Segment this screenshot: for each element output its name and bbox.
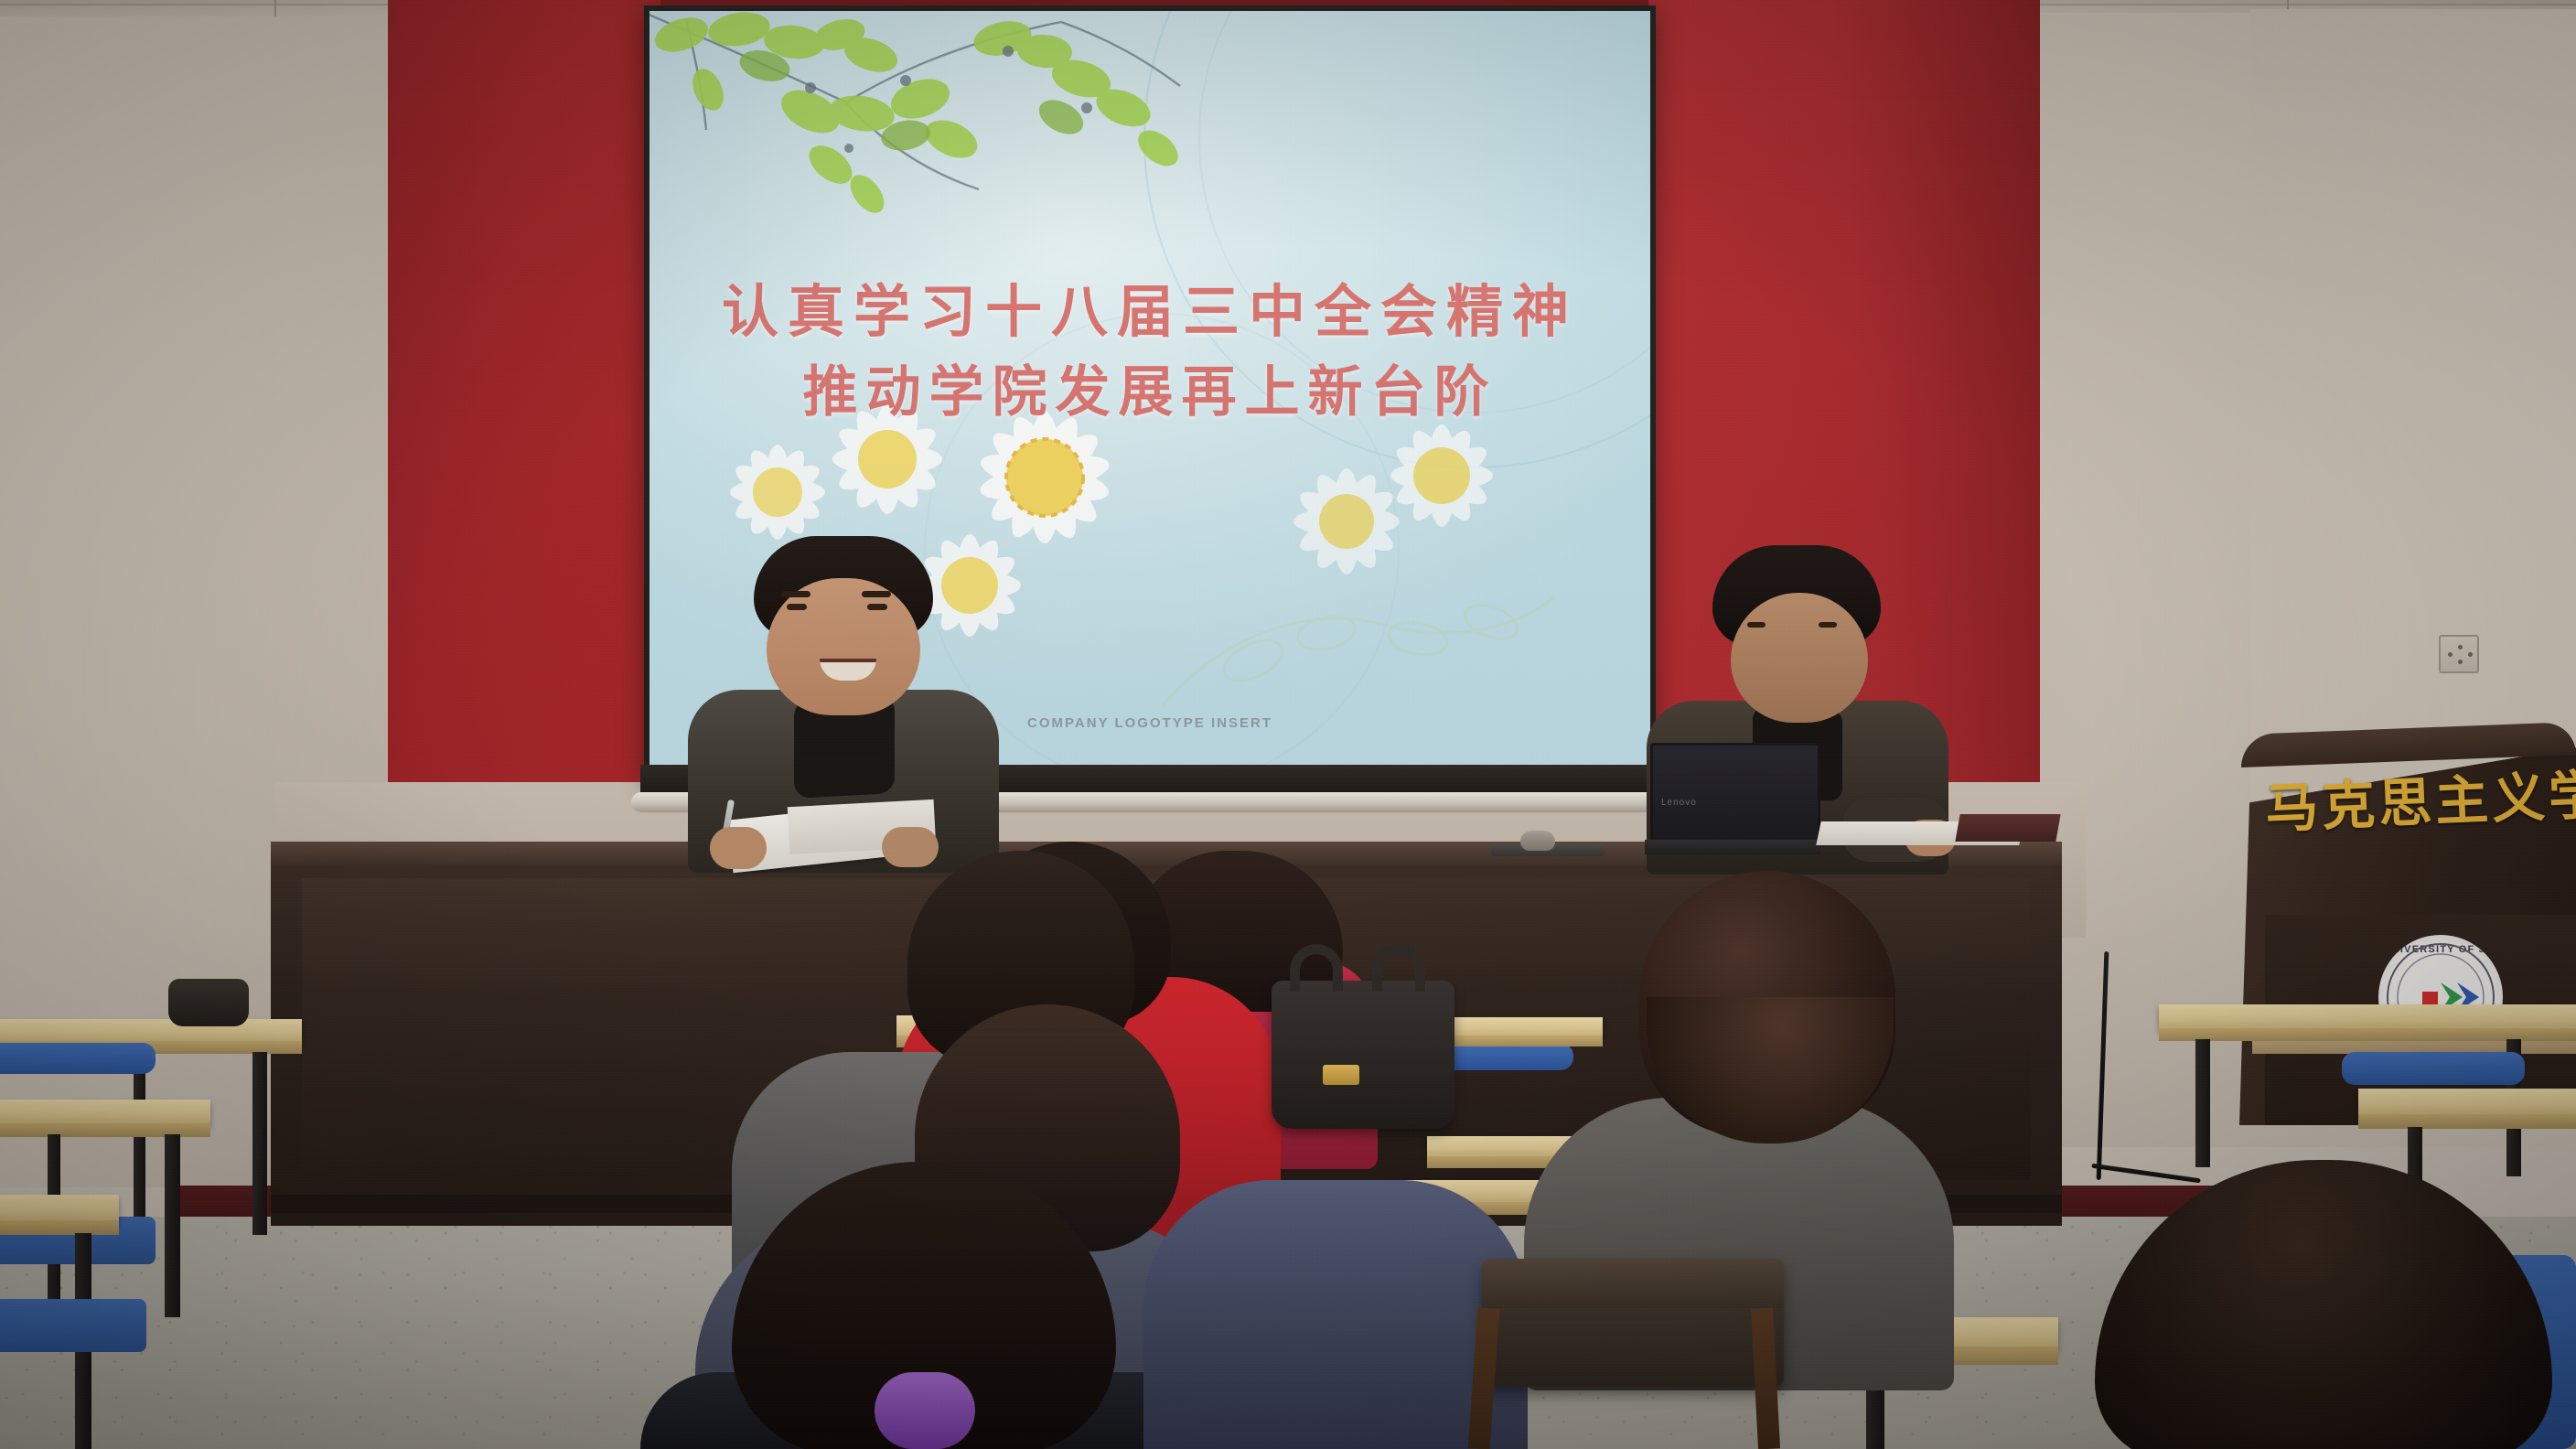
slide-faint-motif [1143,523,1564,743]
black-handbag [1272,981,1454,1129]
podium-sign-text: 马克思主义学 [2263,753,2576,843]
purple-hair-tie [875,1372,975,1449]
right-man-eye [1819,622,1837,628]
slide-subtitle: 推动学院发展再上新台阶 [649,348,1650,427]
classroom-meeting-photo: 认真学习十八届三中全会精神 推动学院发展再上新台阶 COMPANY LOGOTY… [0,0,2576,1449]
speaker-eyebrow [781,591,810,597]
speaker-eyebrow [862,591,891,597]
computer-mouse-icon [1520,831,1555,851]
chair-left [0,1043,156,1074]
small-bag-on-desk [168,979,249,1026]
power-cable [2091,1164,2201,1184]
folder-on-table [1955,814,2060,842]
wall-outlet-icon [2439,635,2479,673]
person-speaker-left [688,536,999,865]
slide-leaf-branch-decoration [649,11,1198,240]
laptop-brand-label: Lenovo [1661,798,1697,808]
speaker-eye [867,604,887,610]
chair-left-front-seat [0,1299,146,1352]
handbag-clasp [1323,1065,1359,1085]
slide-title: 认真学习十八届三中全会精神 [649,265,1650,348]
chair-right-back [2342,1052,2525,1085]
speaker-face [767,578,920,715]
right-man-eye [1747,622,1766,628]
laptop [1650,743,1820,845]
red-accent-panel-left [388,0,660,823]
messenger-bag-flap [1482,1259,1784,1308]
speaker-eye [787,604,807,610]
speaker-hand [882,827,939,867]
speaker-hand [710,827,767,869]
right-man-face [1731,593,1868,723]
laptop-base [1645,840,1820,854]
